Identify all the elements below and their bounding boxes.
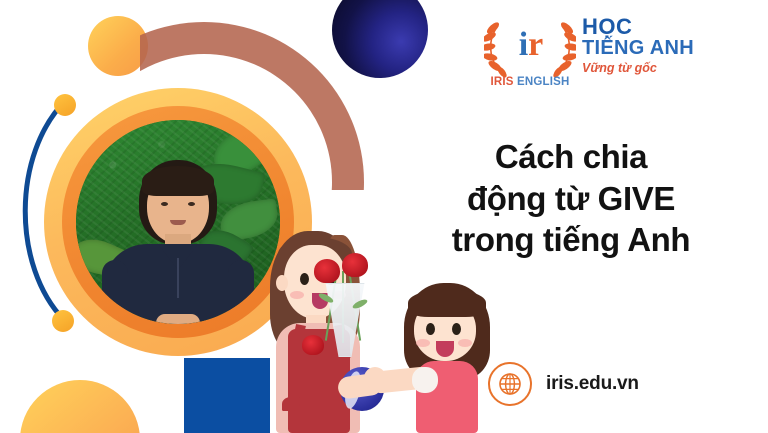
logo-tieng-anh-text: TIẾNG ANH xyxy=(582,38,682,59)
globe-icon xyxy=(488,362,532,406)
child-character xyxy=(386,283,500,433)
logo-monogram-i: i xyxy=(519,26,528,63)
headline-line-1: Cách chia xyxy=(396,136,746,178)
headline-line-2: động từ GIVE xyxy=(396,178,746,220)
orange-circle-top xyxy=(88,16,148,76)
logo-monogram-r: r xyxy=(528,26,543,63)
logo-brand-english: ENGLISH xyxy=(514,76,570,88)
logo-hoc-text: HỌC xyxy=(582,16,682,38)
logo-brand-iris: IRIS xyxy=(490,76,513,88)
iris-english-logo[interactable]: ir IRIS ENGLISH HỌC TIẾNG ANH Vững từ gố… xyxy=(482,14,682,106)
logo-monogram: ir xyxy=(506,28,556,62)
logo-brand-line: IRIS ENGLISH xyxy=(482,76,578,88)
orange-circle-bottom-left xyxy=(20,380,140,433)
website-url[interactable]: iris.edu.vn xyxy=(546,373,639,395)
logo-emblem: ir IRIS ENGLISH xyxy=(482,14,578,106)
headline-line-3: trong tiếng Anh xyxy=(396,219,746,261)
poster-canvas: ir IRIS ENGLISH HỌC TIẾNG ANH Vững từ gố… xyxy=(0,0,768,433)
poster-headline: Cách chia động từ GIVE trong tiếng Anh xyxy=(396,136,746,261)
logo-tagline: Vững từ gốc xyxy=(582,61,682,75)
carnation-bouquet xyxy=(296,249,392,369)
orange-dot-top xyxy=(54,94,76,116)
website-row[interactable]: iris.edu.vn xyxy=(488,362,639,406)
orange-dot-bottom xyxy=(52,310,74,332)
logo-wordmark: HỌC TIẾNG ANH Vững từ gốc xyxy=(582,16,682,75)
